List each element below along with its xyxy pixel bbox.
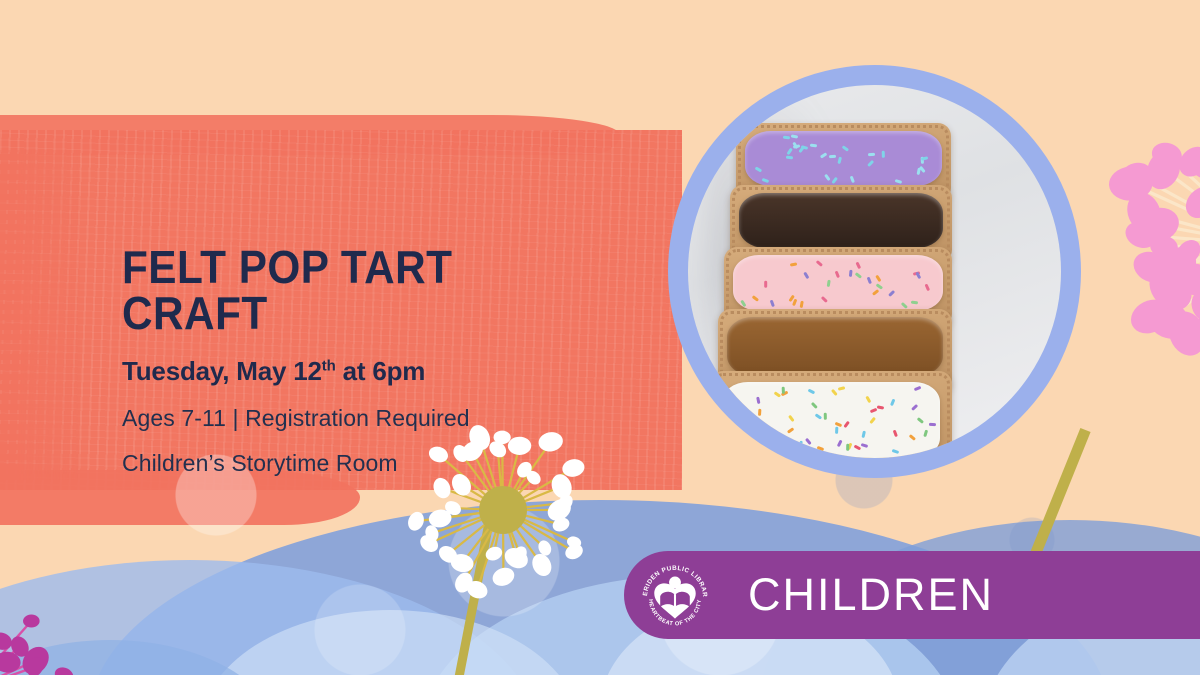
event-date-suffix: at 6pm (336, 356, 426, 386)
felt-tart-sprinkles (727, 317, 943, 376)
felt-tart-icing (727, 317, 943, 376)
logo-emblem-icon (654, 577, 695, 619)
event-date: Tuesday, May 12th at 6pm (122, 356, 592, 387)
event-location: Children’s Storytime Room (122, 450, 592, 477)
meriden-public-library-logo: MERIDEN PUBLIC LIBRARY HEARTBEAT OF THE … (638, 558, 712, 632)
category-label: CHILDREN (748, 569, 994, 621)
event-date-ordinal: th (322, 357, 336, 374)
flyer-canvas: FELT POP TART CRAFT Tuesday, May 12th at… (0, 0, 1200, 675)
felt-tart-icing (745, 131, 942, 186)
page-title: FELT POP TART CRAFT (122, 244, 554, 336)
felt-pop-tarts-photo-frame (668, 65, 1081, 478)
event-text-block: FELT POP TART CRAFT Tuesday, May 12th at… (122, 244, 592, 477)
felt-pop-tart-white-icing (710, 371, 952, 458)
felt-tart-sprinkles (733, 255, 943, 311)
felt-tart-sprinkles (722, 382, 940, 458)
felt-tart-sprinkles (739, 193, 943, 248)
felt-pop-tarts-photo (688, 85, 1061, 458)
event-ages-registration: Ages 7-11 | Registration Required (122, 405, 592, 432)
dandelion-magenta (0, 560, 180, 675)
felt-tart-sprinkles (745, 131, 942, 186)
felt-tart-icing (739, 193, 943, 248)
category-banner: MERIDEN PUBLIC LIBRARY HEARTBEAT OF THE … (624, 551, 1200, 639)
felt-tart-icing (733, 255, 943, 311)
dandelion-pink (1060, 70, 1200, 420)
felt-tart-icing (722, 382, 940, 458)
event-date-prefix: Tuesday, May 12 (122, 356, 322, 386)
